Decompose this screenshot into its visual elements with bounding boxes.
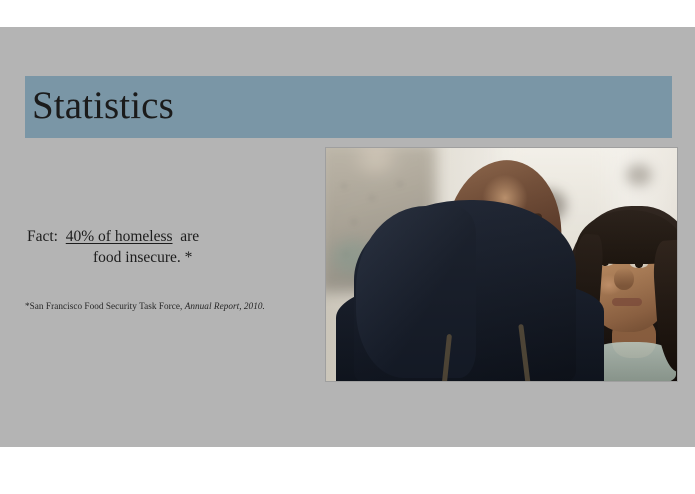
fact-line1-tail: are [180,228,199,245]
photograph [326,148,677,381]
fact-highlight: 40% of homeless [66,228,173,245]
footnote-publication: Annual Report, 2010. [185,301,265,311]
man-hood-edge [356,206,476,378]
fact-line-2: food insecure. * [27,247,297,268]
footnote: *San Francisco Food Security Task Force,… [25,301,265,311]
footnote-source: *San Francisco Food Security Task Force, [25,301,182,311]
photo-background-blob-secondary [626,164,652,186]
fact-line-1: Fact: 40% of homeless are [27,226,297,247]
photo-frame [326,148,677,381]
fact-text-block: Fact: 40% of homeless are food insecure.… [27,226,297,268]
woman-nose [614,268,634,290]
woman-mouth [612,298,642,306]
title-banner: Statistics [25,76,672,138]
slide-canvas: Statistics Fact: 40% of homeless are foo… [0,27,695,447]
fact-label: Fact: [27,228,58,245]
page-title: Statistics [32,78,174,134]
